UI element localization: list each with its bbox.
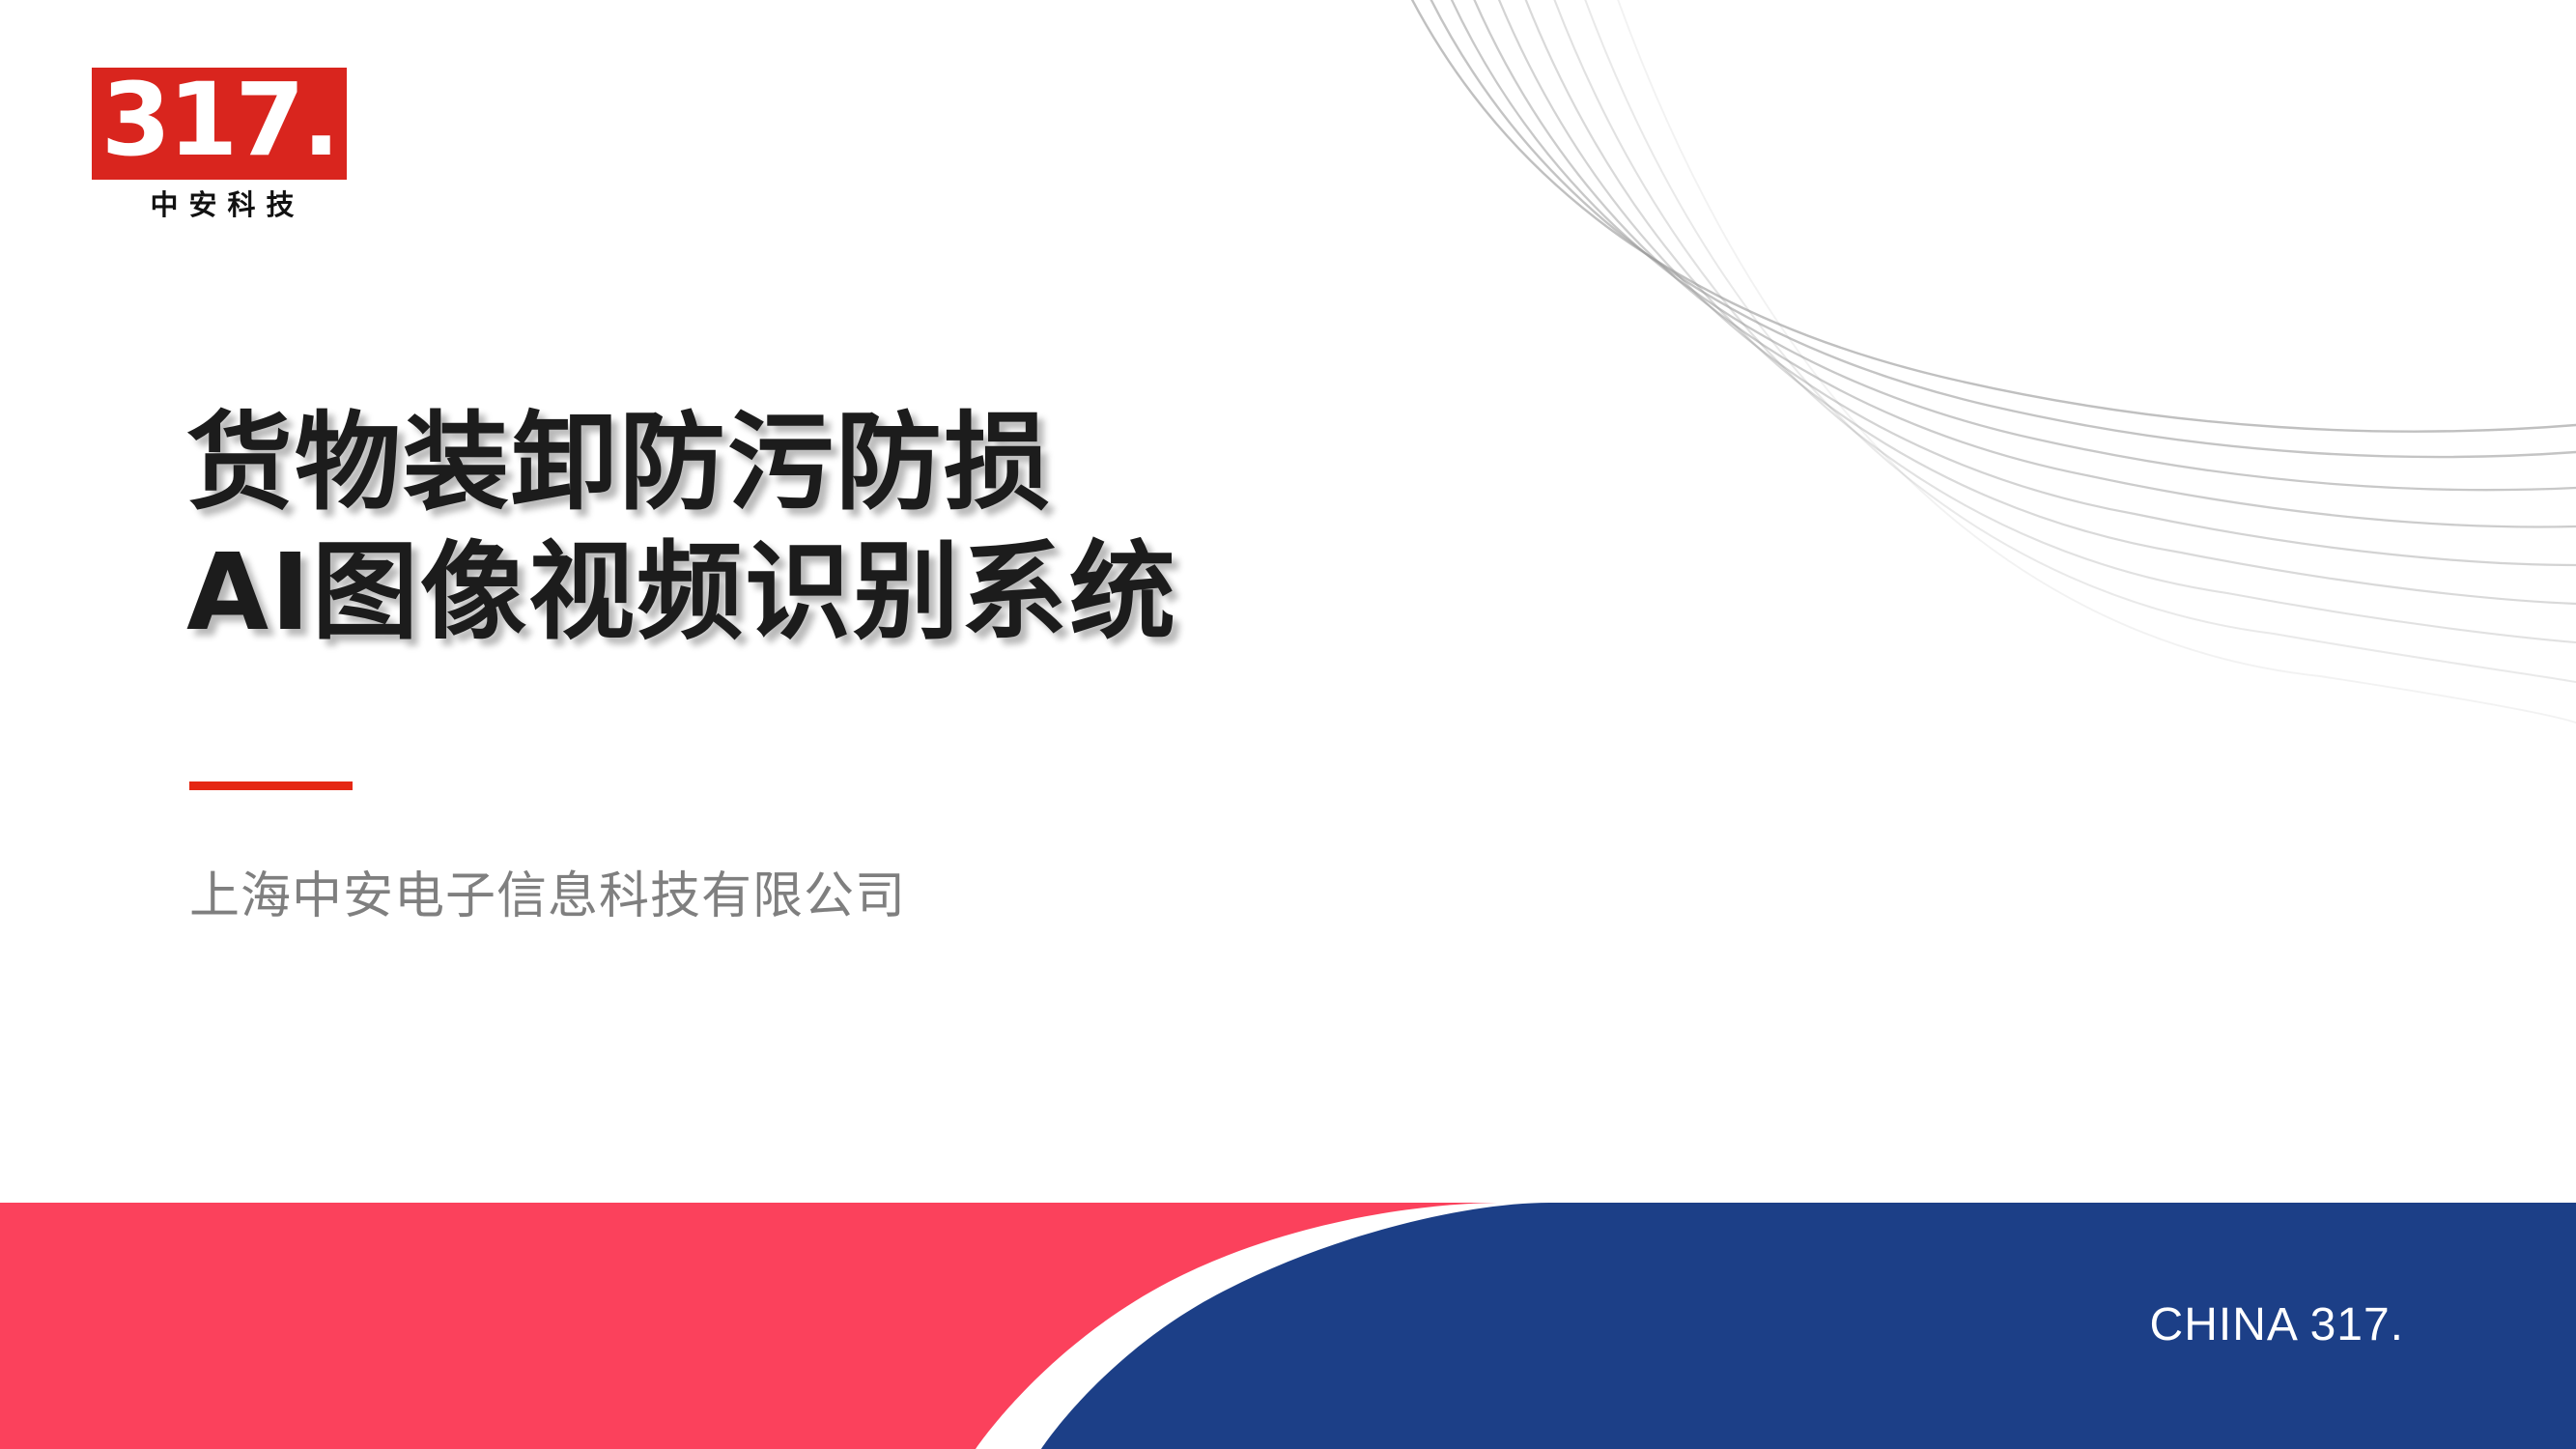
fan-curve-2 — [1422, 0, 2576, 457]
fan-curve-1 — [1402, 0, 2576, 432]
page-title-line-1: 货物装卸防污防损 — [186, 398, 1539, 527]
fan-curve-9 — [1611, 0, 2576, 723]
page-title-line-2: AI图像视频识别系统 — [186, 527, 1539, 657]
fan-curve-4 — [1466, 0, 2576, 526]
fan-curve-7 — [1547, 0, 2576, 642]
fan-curve-6 — [1518, 0, 2576, 604]
fan-curve-8 — [1578, 0, 2576, 682]
logo-mark-text: 317. — [101, 70, 338, 170]
logo-company-name-cn: 中安科技 — [92, 191, 353, 219]
logo-mark-317: 317. — [92, 68, 347, 180]
banner-brand-text: CHINA 317. — [2150, 1302, 2404, 1349]
bottom-banner: CHINA 317. — [0, 1203, 2576, 1449]
page-title: 货物装卸防污防损 AI图像视频识别系统 — [186, 398, 1539, 657]
page-subtitle: 上海中安电子信息科技有限公司 — [189, 871, 906, 922]
cover-slide: 317. 中安科技 货物装卸防污防损 AI图像视频识别系统 上海中安电子信息科技… — [0, 0, 2576, 1449]
company-logo: 317. 中安科技 — [92, 68, 353, 219]
fan-curve-5 — [1491, 0, 2576, 565]
title-accent-rule — [189, 781, 353, 790]
fan-curve-3 — [1443, 0, 2576, 490]
